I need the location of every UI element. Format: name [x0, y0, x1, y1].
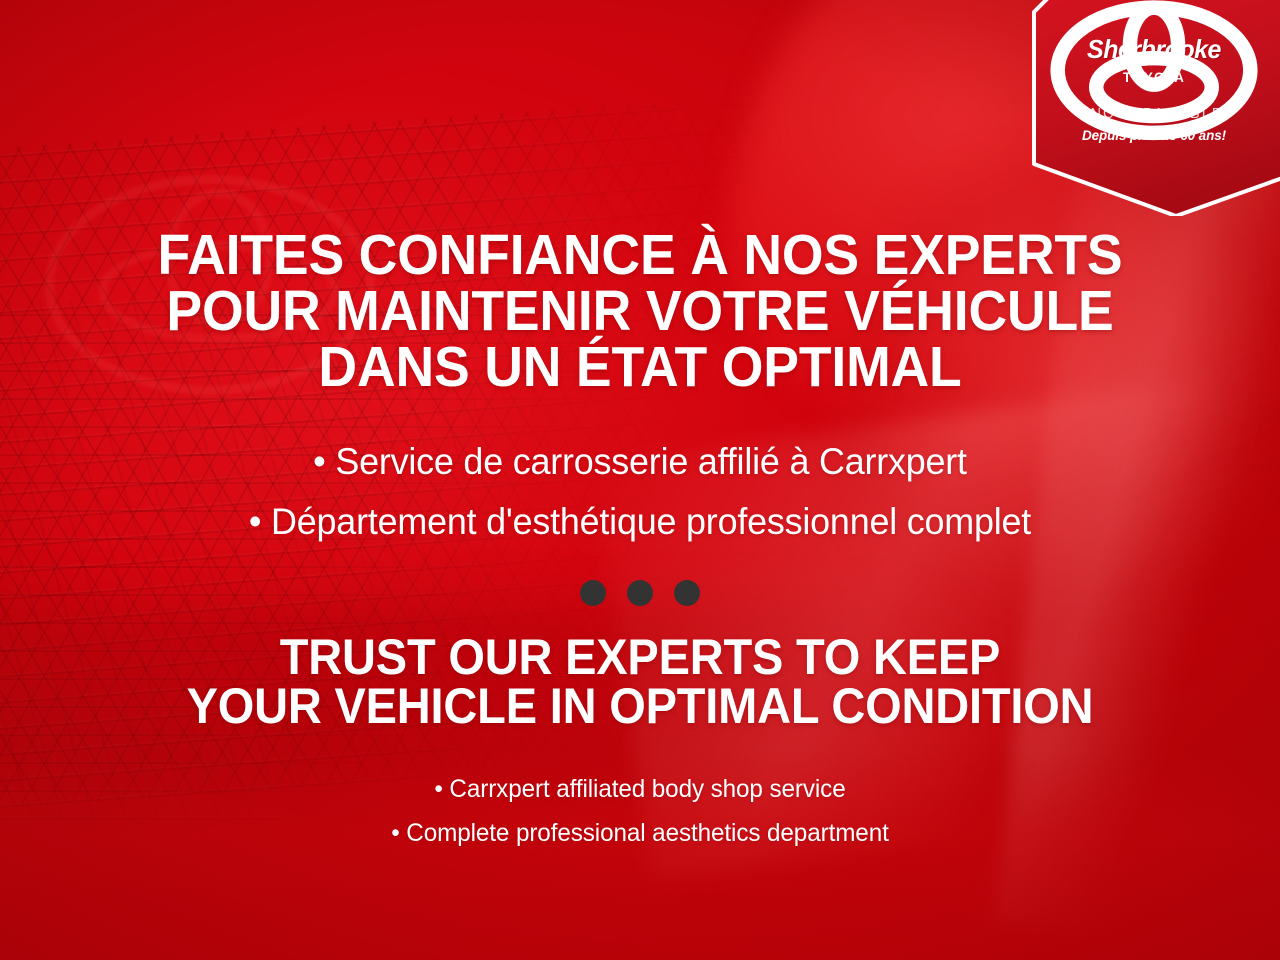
english-bullet-1: • Carrxpert affiliated body shop service	[19, 768, 1261, 812]
promotional-banner: Sherbrooke TOYOTA INCOMPARABLE Depuis pl…	[0, 0, 1280, 960]
english-headline: TRUST OUR EXPERTS TO KEEP YOUR VEHICLE I…	[0, 633, 1280, 731]
french-bullet-1: • Service de carrosserie affilié à Carrx…	[19, 432, 1261, 492]
divider-dot	[674, 580, 700, 606]
french-headline-line-2: POUR MAINTENIR VOTRE VÉHICULE	[91, 284, 1189, 340]
english-headline-line-2: YOUR VEHICLE IN OPTIMAL CONDITION	[80, 682, 1200, 731]
french-headline-line-1: FAITES CONFIANCE À NOS EXPERTS	[91, 228, 1189, 284]
dealership-badge: Sherbrooke TOYOTA INCOMPARABLE Depuis pl…	[1028, 0, 1280, 216]
toyota-logo-row: TOYOTA	[1028, 71, 1280, 85]
english-bullet-2: • Complete professional aesthetics depar…	[19, 812, 1261, 856]
english-bullet-list: • Carrxpert affiliated body shop service…	[0, 768, 1280, 855]
divider-dot	[627, 580, 653, 606]
french-headline: FAITES CONFIANCE À NOS EXPERTS POUR MAIN…	[0, 228, 1280, 396]
divider-dot	[580, 580, 606, 606]
dot-divider	[0, 580, 1280, 606]
toyota-emblem-icon	[1028, 0, 1280, 143]
french-bullet-list: • Service de carrosserie affilié à Carrx…	[0, 432, 1280, 552]
french-headline-line-3: DANS UN ÉTAT OPTIMAL	[91, 340, 1189, 396]
french-bullet-2: • Département d'esthétique professionnel…	[19, 492, 1261, 552]
english-headline-line-1: TRUST OUR EXPERTS TO KEEP	[80, 633, 1200, 682]
